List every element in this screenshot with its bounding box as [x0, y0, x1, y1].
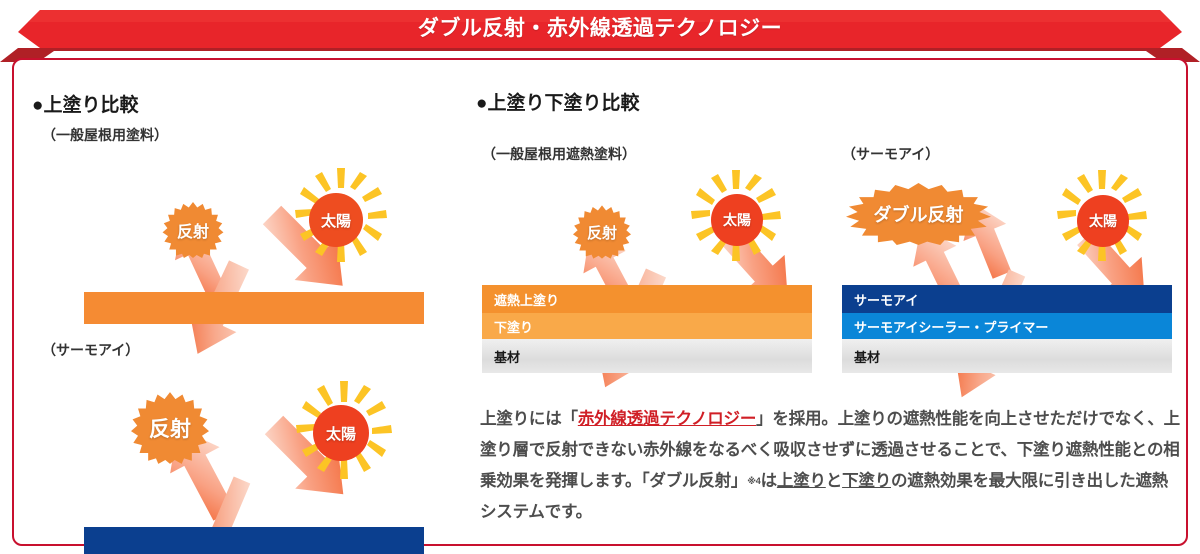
layer-label: サーモアイシーラー・プライマー	[854, 317, 1048, 336]
header-title: ダブル反射・赤外線透過テクノロジー	[0, 6, 1200, 48]
layer-label: 基材	[494, 347, 520, 366]
layer-label: サーモアイ	[854, 290, 918, 309]
left-general-bar	[84, 292, 424, 324]
starburst-icon	[162, 202, 224, 258]
desc-text-6: と	[826, 472, 842, 490]
left-thermoeye-diagram	[24, 330, 434, 540]
layer-item: 遮熱上塗り	[482, 285, 812, 313]
desc-footnote-mark: ※4	[747, 476, 760, 486]
layer-item: サーモアイ	[842, 285, 1172, 313]
content-panel: ●上塗り比較 （一般屋根用塗料）	[12, 58, 1188, 546]
left-thermoeye-sun-badge: 太陽	[313, 405, 369, 461]
desc-text-5: は	[761, 472, 777, 490]
left-thermoeye-bar	[84, 527, 424, 554]
layer-item: サーモアイシーラー・プライマー	[842, 313, 1172, 339]
desc-text-1: 上塗りには「	[480, 410, 578, 428]
desc-text-7: の遮	[891, 472, 924, 490]
left-thermoeye-reflect-badge: 反射	[131, 392, 209, 464]
layer-item: 基材	[842, 339, 1172, 373]
right-general-reflect-badge: 反射	[573, 205, 631, 259]
layer-item: 基材	[482, 339, 812, 373]
right-thermoeye-sun-badge: 太陽	[1077, 195, 1129, 247]
layer-label: 基材	[854, 347, 880, 366]
starburst-icon	[573, 205, 631, 259]
left-general-sun-badge: 太陽	[309, 193, 363, 247]
desc-highlight: 赤外線透過テクノロジー	[578, 410, 756, 428]
left-general-reflect-badge: 反射	[162, 202, 224, 258]
page-root: ダブル反射・赤外線透過テクノロジー ●上塗り比較 （一般屋根用塗料）	[0, 0, 1200, 554]
right-general-sun-badge: 太陽	[711, 194, 763, 246]
layer-label: 遮熱上塗り	[494, 290, 559, 309]
desc-underline-2: 下塗り	[842, 472, 891, 490]
desc-text-2: 」を採用。上塗りの遮熱性能を向上させただけ	[756, 410, 1098, 428]
starburst-icon	[131, 392, 209, 464]
header-ribbon: ダブル反射・赤外線透過テクノロジー	[0, 6, 1200, 58]
starburst-icon	[846, 183, 991, 245]
right-section-title: ●上塗り下塗り比較	[476, 88, 639, 115]
description-paragraph: 上塗りには「赤外線透過テクノロジー」を採用。上塗りの遮熱性能を向上させただけでな…	[480, 404, 1180, 528]
right-general-layer-stack: 遮熱上塗り 下塗り 基材	[482, 285, 812, 373]
left-general-diagram	[24, 110, 434, 360]
right-thermoeye-reflect-badge: ダブル反射	[846, 183, 991, 245]
desc-underline-1: 上塗り	[777, 472, 826, 490]
layer-label: 下塗り	[494, 317, 533, 336]
right-thermoeye-layer-stack: サーモアイ サーモアイシーラー・プライマー 基材	[842, 285, 1172, 373]
layer-item: 下塗り	[482, 313, 812, 339]
